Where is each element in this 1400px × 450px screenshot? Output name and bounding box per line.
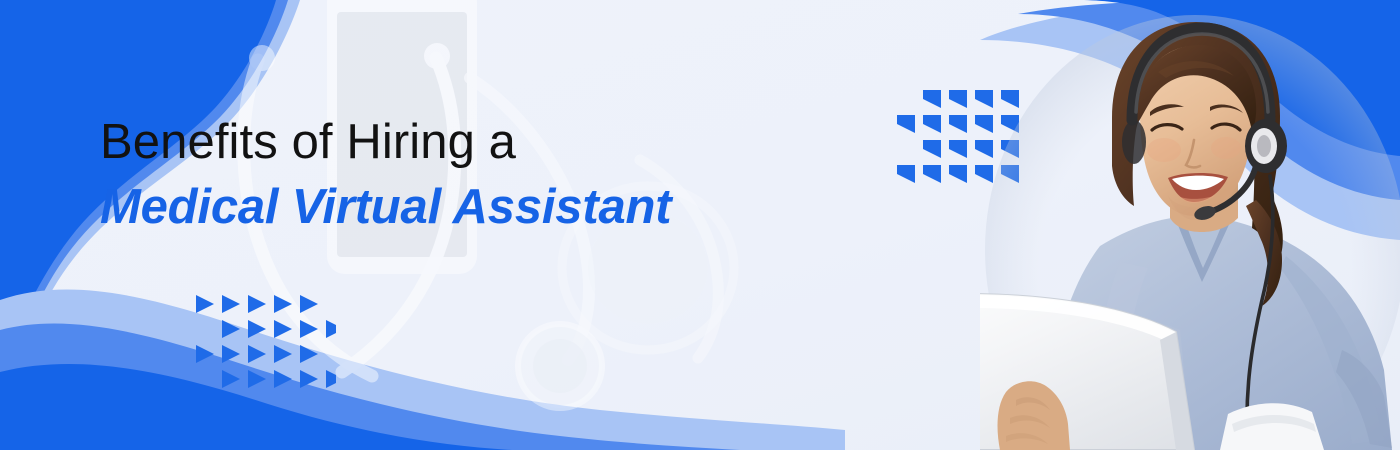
medical-virtual-assistant-photo <box>980 0 1400 450</box>
mouth <box>1168 173 1228 202</box>
mic-boom <box>1210 166 1256 212</box>
eye-right <box>1212 124 1240 130</box>
neck <box>1170 172 1238 232</box>
scrubs-top <box>1042 212 1392 450</box>
headline-line-1: Benefits of Hiring a <box>100 118 880 167</box>
ear-cup <box>1245 119 1287 173</box>
banner-root: Benefits of Hiring a Medical Virtual Ass… <box>0 0 1400 450</box>
wave-bottom-light <box>0 289 845 450</box>
hair-front <box>1135 45 1256 132</box>
headset <box>1122 28 1287 450</box>
hair-back <box>1112 22 1283 258</box>
wave-top-right-dark <box>1076 0 1400 156</box>
headline-block: Benefits of Hiring a Medical Virtual Ass… <box>100 118 880 232</box>
left-pointing-triangle-grid <box>897 88 1027 184</box>
right-pointing-triangle-grid <box>196 293 336 389</box>
laptop <box>980 294 1194 450</box>
hand <box>998 381 1070 450</box>
eyebrow-right <box>1210 105 1243 113</box>
wristband <box>1220 403 1324 450</box>
eye-left <box>1152 125 1182 130</box>
headline-line-2: Medical Virtual Assistant <box>100 183 880 232</box>
wave-bottom-mid <box>0 324 740 450</box>
eyebrow-left <box>1150 104 1184 116</box>
mic-capsule <box>1193 204 1218 223</box>
teeth <box>1172 176 1224 190</box>
wave-top-right-mid <box>1018 0 1400 200</box>
headset-cable <box>1247 176 1273 450</box>
hair-strand <box>1246 200 1282 306</box>
face <box>1140 46 1252 220</box>
wave-top-right-light <box>980 0 1400 240</box>
wave-bottom-dark <box>0 364 512 450</box>
